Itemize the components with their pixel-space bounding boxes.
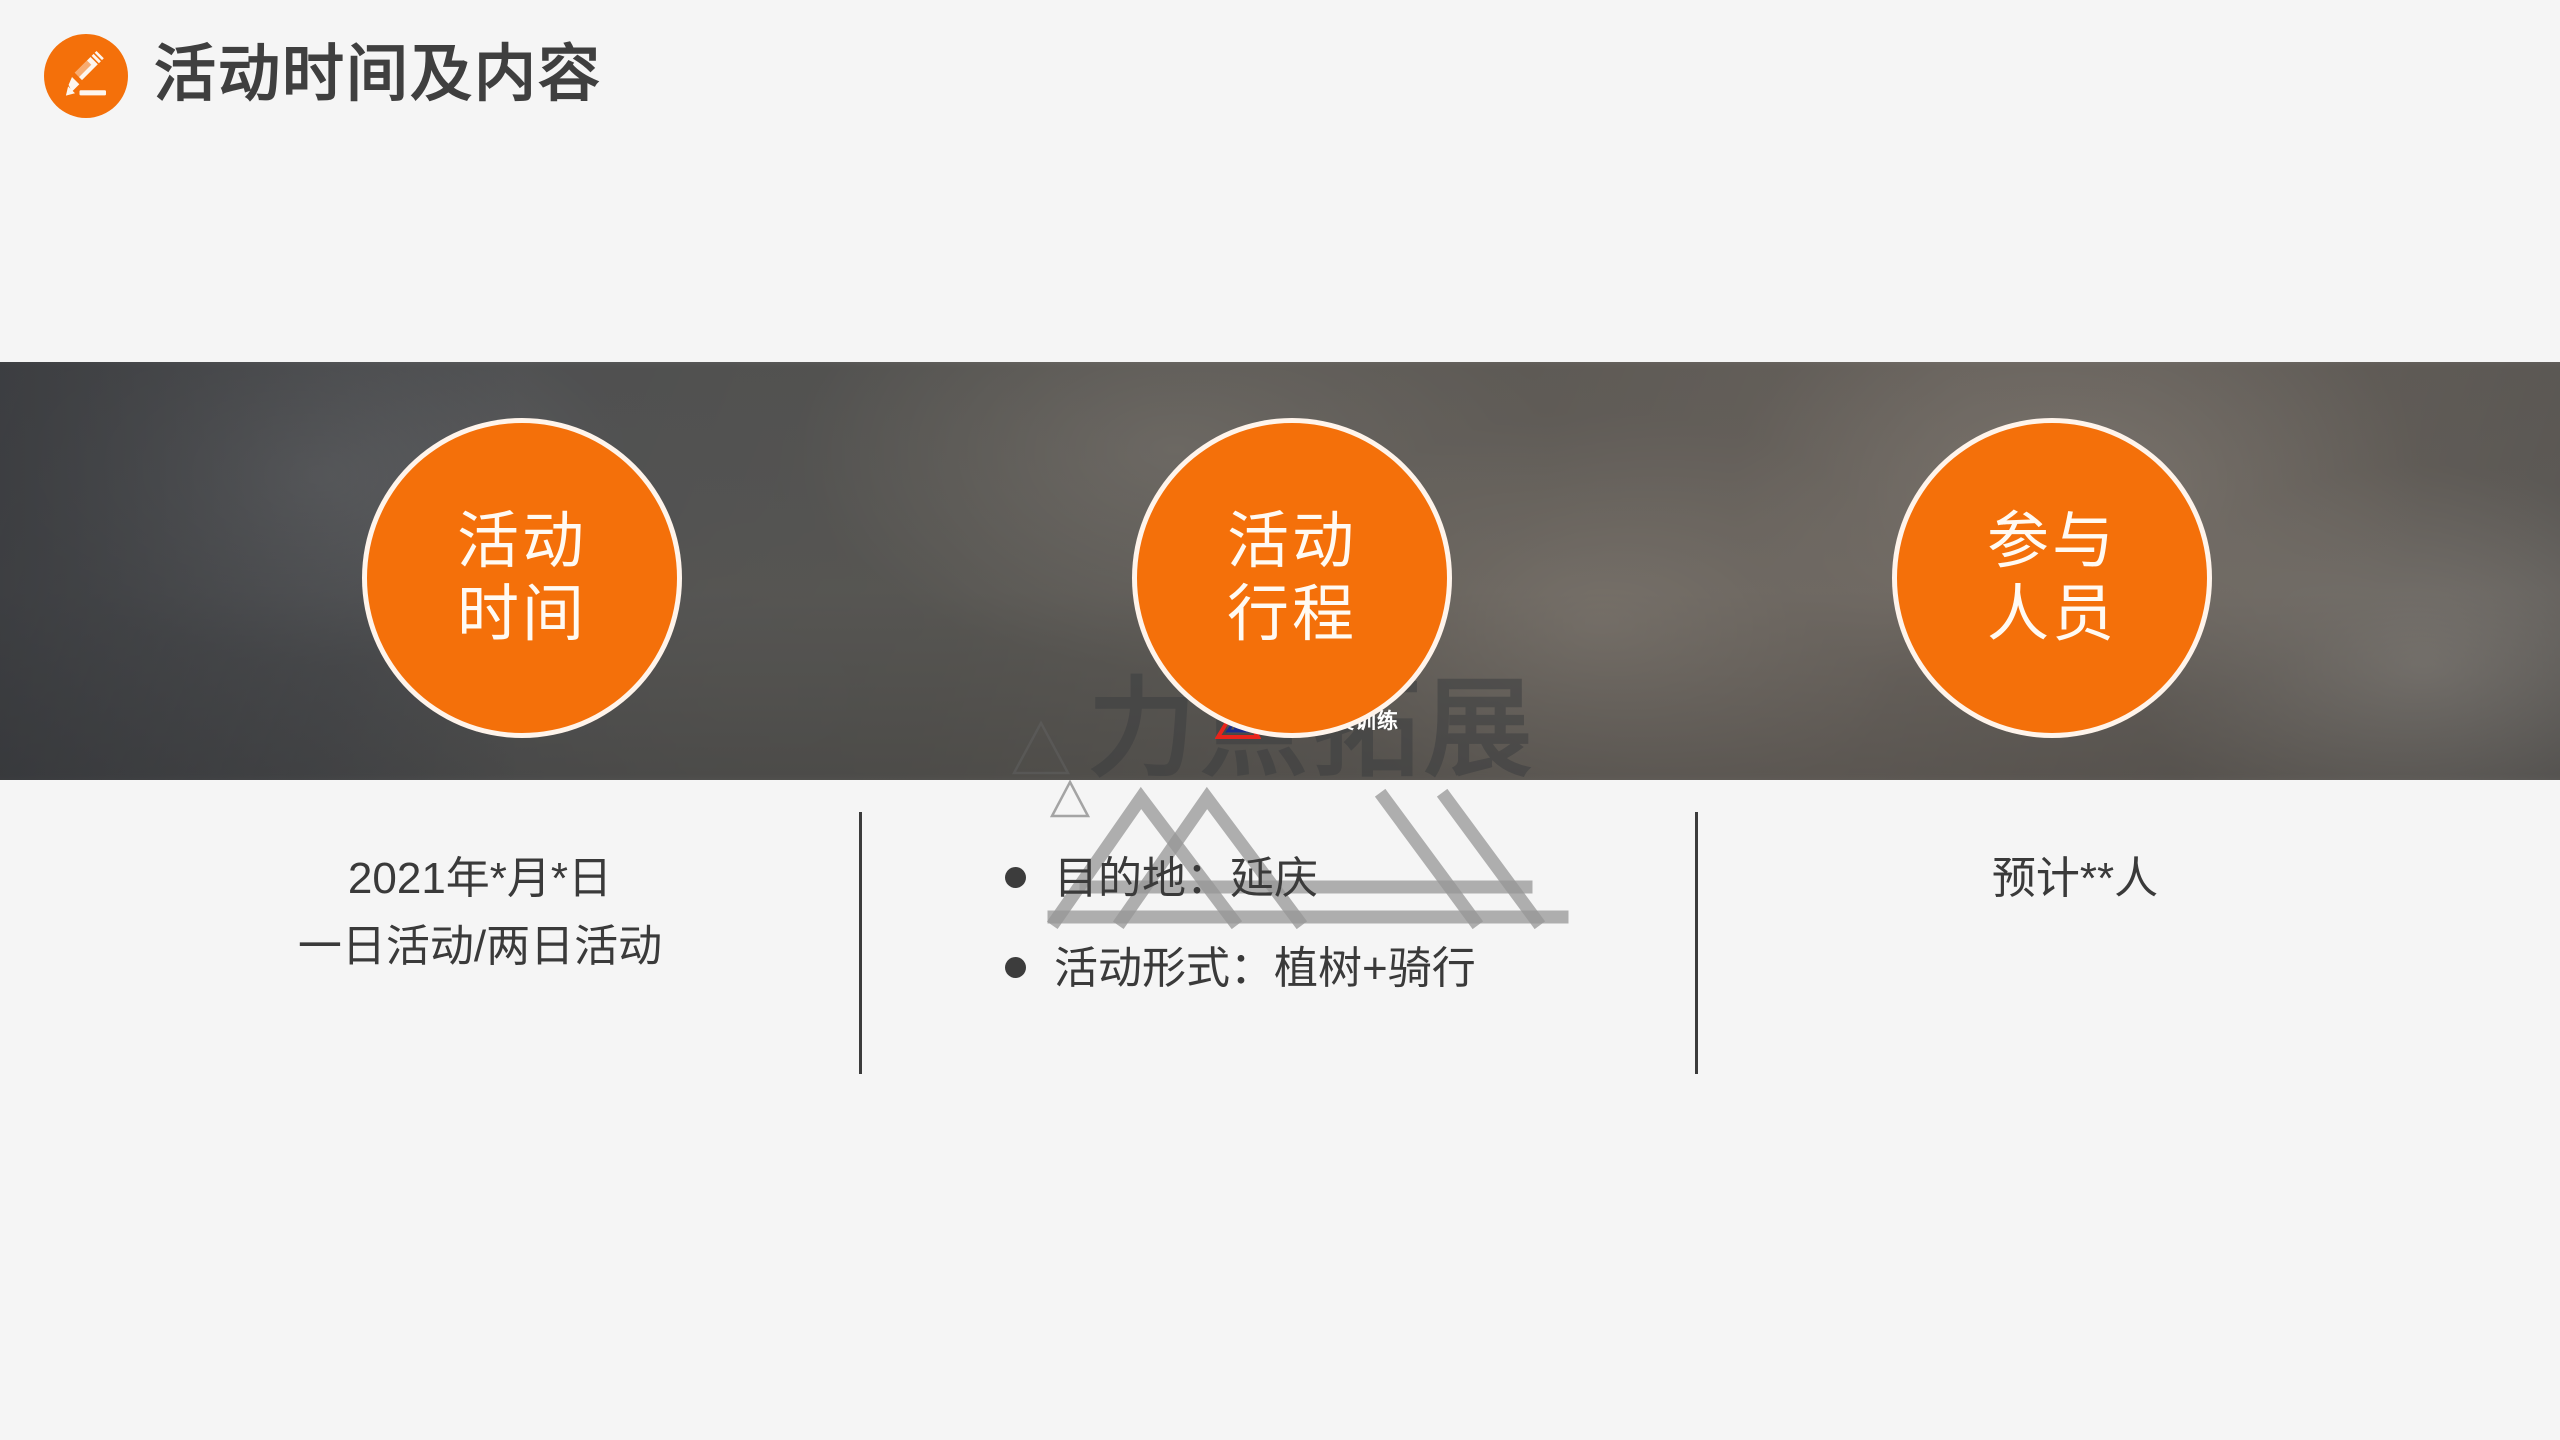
circle-label-line1: 参与 bbox=[1987, 505, 2117, 578]
column-activity-time: 2021年*月*日 一日活动/两日活动 bbox=[120, 845, 840, 981]
slide-header: 活动时间及内容 bbox=[0, 0, 2560, 150]
circle-activity-itinerary: 活动 行程 bbox=[1132, 418, 1452, 738]
bullet-dot-icon bbox=[1005, 867, 1026, 888]
column-divider bbox=[859, 812, 862, 1074]
circle-label-line1: 活动 bbox=[457, 505, 587, 578]
slide-canvas: 活动时间及内容 力点拓展 bbox=[0, 0, 2560, 1440]
column-divider bbox=[1695, 812, 1698, 1074]
list-item: 目的地：延庆 bbox=[1005, 845, 1665, 913]
activity-date-text: 2021年*月*日 bbox=[120, 845, 840, 913]
participant-count-text: 预计**人 bbox=[1715, 845, 2435, 913]
circle-label-line1: 活动 bbox=[1227, 505, 1357, 578]
triangle-outline-icon bbox=[1048, 778, 1092, 820]
circle-participants: 参与 人员 bbox=[1892, 418, 2212, 738]
circle-label-line2: 行程 bbox=[1227, 578, 1357, 651]
column-activity-itinerary: 目的地：延庆 活动形式：植树+骑行 bbox=[1005, 845, 1665, 1025]
list-item: 活动形式：植树+骑行 bbox=[1005, 935, 1665, 1003]
circle-activity-time: 活动 时间 bbox=[362, 418, 682, 738]
circle-label-line2: 人员 bbox=[1987, 578, 2117, 651]
activity-format-text: 活动形式：植树+骑行 bbox=[1054, 935, 1476, 1003]
destination-text: 目的地：延庆 bbox=[1054, 845, 1318, 913]
column-participants: 预计**人 bbox=[1715, 845, 2435, 913]
activity-duration-text: 一日活动/两日活动 bbox=[120, 913, 840, 981]
pencil-icon bbox=[44, 34, 128, 118]
circle-label-line2: 时间 bbox=[457, 578, 587, 651]
bullet-dot-icon bbox=[1005, 957, 1026, 978]
page-title: 活动时间及内容 bbox=[154, 44, 602, 106]
